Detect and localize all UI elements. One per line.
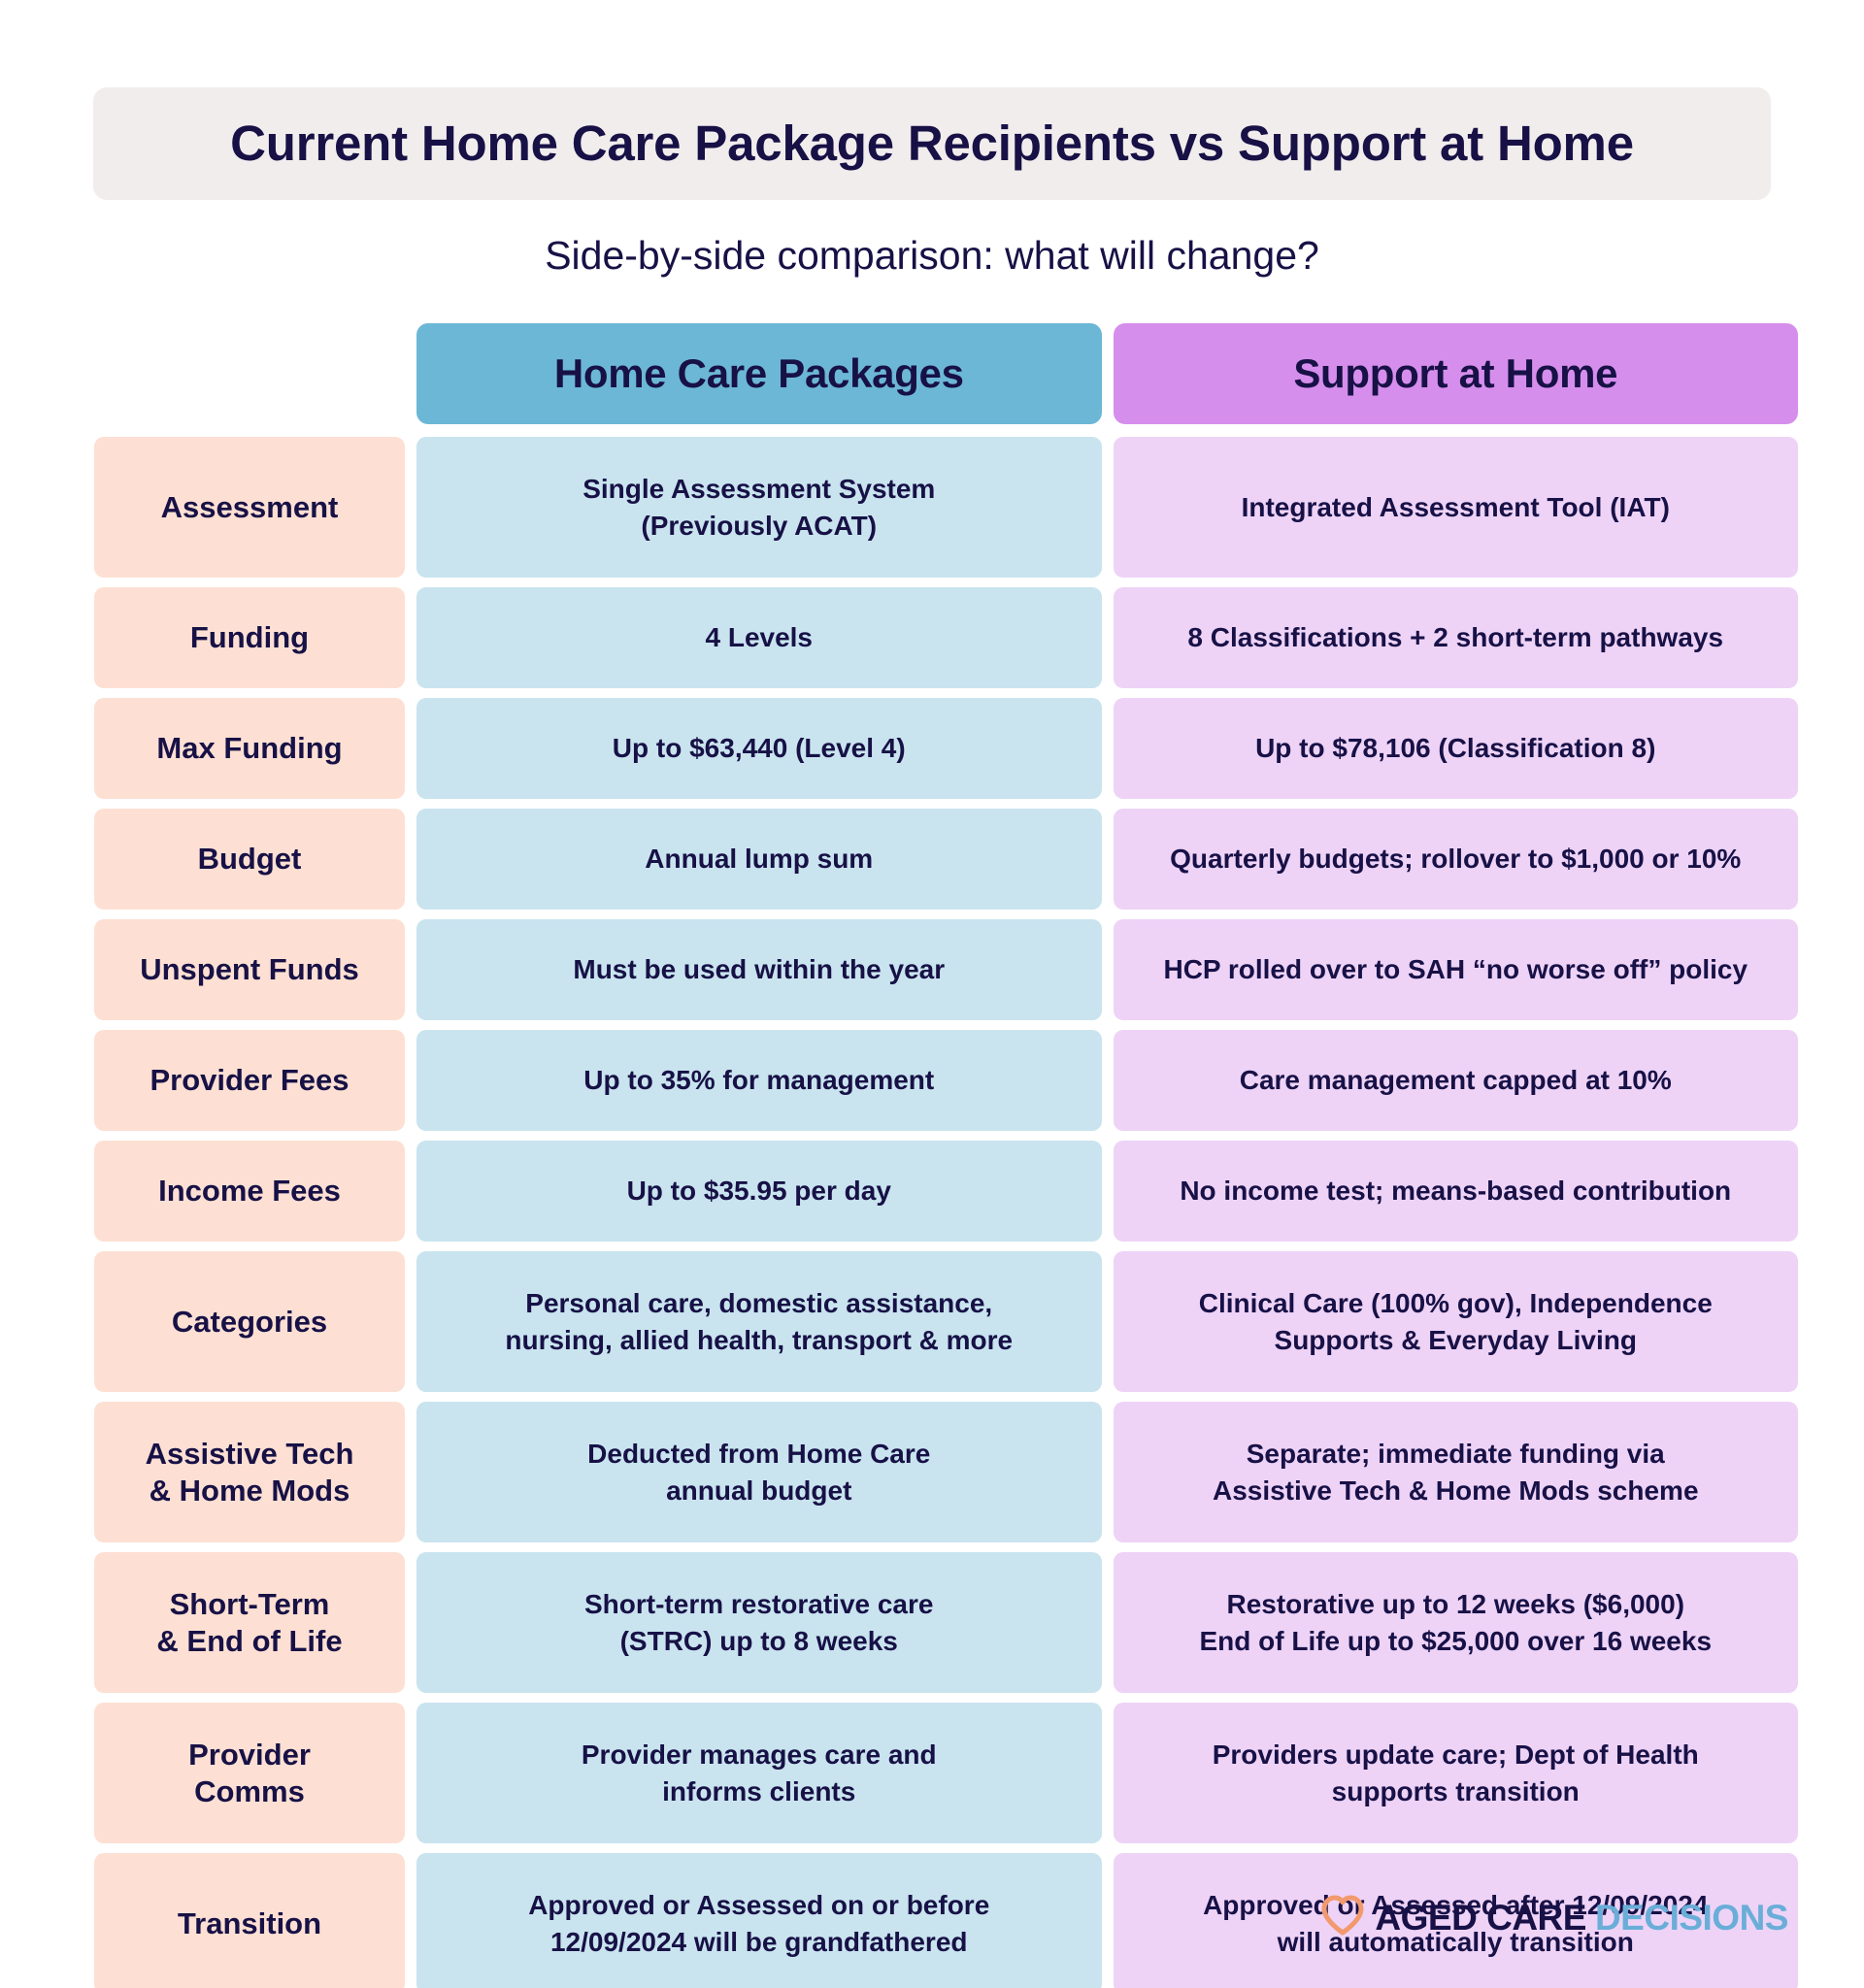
cell-support-at-home: Clinical Care (100% gov), Independence S… [1114, 1251, 1799, 1392]
cell-support-at-home: No income test; means-based contribution [1114, 1141, 1799, 1242]
cell-support-at-home: Separate; immediate funding via Assistiv… [1114, 1402, 1799, 1542]
table-row: Assistive Tech & Home ModsDeducted from … [94, 1402, 1798, 1542]
cell-support-at-home: Integrated Assessment Tool (IAT) [1114, 437, 1799, 578]
row-label: Provider Fees [94, 1030, 405, 1131]
heart-icon [1320, 1895, 1365, 1940]
cell-support-at-home: Restorative up to 12 weeks ($6,000) End … [1114, 1552, 1799, 1693]
table-row: Income FeesUp to $35.95 per dayNo income… [94, 1141, 1798, 1242]
row-label: Provider Comms [94, 1703, 405, 1843]
column-header-right-label: Support at Home [1293, 350, 1617, 397]
cell-home-care-packages: Provider manages care and informs client… [416, 1703, 1102, 1843]
table-row: Short-Term & End of LifeShort-term resto… [94, 1552, 1798, 1693]
row-label: Assessment [94, 437, 405, 578]
column-header-left-label: Home Care Packages [554, 350, 964, 397]
page-title: Current Home Care Package Recipients vs … [230, 116, 1634, 171]
table-row: Max FundingUp to $63,440 (Level 4)Up to … [94, 698, 1798, 799]
logo-wordmark: AGED CARE DECISIONS [1375, 1898, 1788, 1938]
column-header-support-at-home: Support at Home [1114, 323, 1799, 424]
cell-home-care-packages: Approved or Assessed on or before 12/09/… [416, 1853, 1102, 1988]
row-label: Transition [94, 1853, 405, 1988]
table-row: CategoriesPersonal care, domestic assist… [94, 1251, 1798, 1392]
row-label: Max Funding [94, 698, 405, 799]
table-body: AssessmentSingle Assessment System (Prev… [94, 437, 1798, 1988]
cell-support-at-home: Up to $78,106 (Classification 8) [1114, 698, 1799, 799]
cell-support-at-home: HCP rolled over to SAH “no worse off” po… [1114, 919, 1799, 1020]
row-label: Unspent Funds [94, 919, 405, 1020]
row-label: Short-Term & End of Life [94, 1552, 405, 1693]
brand-logo: AGED CARE DECISIONS [1320, 1895, 1788, 1940]
cell-home-care-packages: Up to $35.95 per day [416, 1141, 1102, 1242]
cell-support-at-home: Care management capped at 10% [1114, 1030, 1799, 1131]
infographic-page: Current Home Care Package Recipients vs … [0, 0, 1864, 1988]
table-row: Provider FeesUp to 35% for managementCar… [94, 1030, 1798, 1131]
cell-home-care-packages: Personal care, domestic assistance, nurs… [416, 1251, 1102, 1392]
cell-home-care-packages: Up to 35% for management [416, 1030, 1102, 1131]
row-label: Income Fees [94, 1141, 405, 1242]
cell-home-care-packages: Annual lump sum [416, 809, 1102, 910]
table-header-row: Home Care Packages Support at Home [94, 323, 1798, 424]
header-label-spacer [94, 323, 405, 424]
table-row: BudgetAnnual lump sumQuarterly budgets; … [94, 809, 1798, 910]
table-row: AssessmentSingle Assessment System (Prev… [94, 437, 1798, 578]
cell-home-care-packages: Up to $63,440 (Level 4) [416, 698, 1102, 799]
cell-home-care-packages: Single Assessment System (Previously ACA… [416, 437, 1102, 578]
cell-home-care-packages: Deducted from Home Care annual budget [416, 1402, 1102, 1542]
cell-support-at-home: Providers update care; Dept of Health su… [1114, 1703, 1799, 1843]
table-row: Funding4 Levels8 Classifications + 2 sho… [94, 587, 1798, 688]
row-label: Assistive Tech & Home Mods [94, 1402, 405, 1542]
cell-home-care-packages: 4 Levels [416, 587, 1102, 688]
column-header-home-care-packages: Home Care Packages [416, 323, 1102, 424]
page-subtitle: Side-by-side comparison: what will chang… [93, 233, 1771, 279]
table-row: Unspent FundsMust be used within the yea… [94, 919, 1798, 1020]
comparison-table: Home Care Packages Support at Home Asses… [94, 323, 1798, 1988]
row-label: Funding [94, 587, 405, 688]
logo-text-decisions: DECISIONS [1595, 1898, 1788, 1938]
cell-home-care-packages: Short-term restorative care (STRC) up to… [416, 1552, 1102, 1693]
title-banner: Current Home Care Package Recipients vs … [93, 87, 1771, 200]
logo-text-aged-care: AGED CARE [1375, 1898, 1586, 1938]
cell-support-at-home: 8 Classifications + 2 short-term pathway… [1114, 587, 1799, 688]
cell-support-at-home: Quarterly budgets; rollover to $1,000 or… [1114, 809, 1799, 910]
cell-home-care-packages: Must be used within the year [416, 919, 1102, 1020]
row-label: Budget [94, 809, 405, 910]
table-row: Provider CommsProvider manages care and … [94, 1703, 1798, 1843]
row-label: Categories [94, 1251, 405, 1392]
